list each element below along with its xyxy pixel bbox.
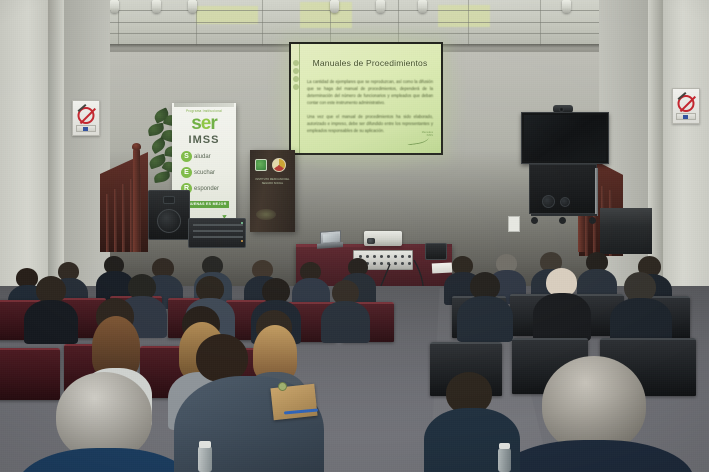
cart-legs — [531, 214, 597, 224]
cabinet-knob — [542, 195, 555, 208]
ceiling-grid-line — [262, 0, 263, 46]
left-railing-newel — [133, 148, 140, 252]
banner-org: IMSS — [172, 134, 236, 146]
ceiling-spotlight — [418, 0, 427, 13]
ceiling-spotlight — [152, 0, 161, 13]
right-pilaster-face — [648, 0, 663, 300]
slide-paragraph-1: La cantidad de ejemplares que se reprodu… — [307, 78, 433, 107]
no-smoking-sign-left — [72, 100, 100, 136]
banner-line-saludar: S aludar — [181, 151, 211, 162]
banner-brand: ser — [172, 114, 236, 133]
bottle-cap — [199, 441, 211, 448]
sign-caption — [76, 125, 96, 132]
slide-title: Manuales de Procedimientos — [305, 58, 435, 68]
slide-logo-label: ManualesIMSS — [422, 131, 433, 137]
slide-body: La cantidad de ejemplares que se reprodu… — [307, 78, 433, 134]
banner-word-escuchar: scuchar — [194, 170, 215, 176]
banner-top-bar — [174, 103, 234, 107]
presenter-laptop — [317, 230, 343, 250]
ceiling-spotlight — [188, 0, 197, 13]
ceiling-spotlight — [330, 0, 339, 13]
banner-word-saludar: aludar — [194, 154, 211, 160]
left-wall-recess — [62, 0, 110, 300]
podium-highlight — [256, 209, 276, 220]
water-bottle — [198, 446, 212, 472]
conference-room-photo: Manuales de Procedimientos La cantidad d… — [0, 0, 709, 472]
cabinet-knob — [560, 197, 570, 207]
banner-line-escuchar: E scuchar — [181, 167, 215, 178]
ceiling-grid-line — [540, 0, 541, 46]
wall-outlet-plate — [508, 216, 520, 232]
no-smoking-sign-right — [672, 88, 700, 124]
left-pilaster-face — [48, 0, 64, 300]
ceiling-grid-line — [398, 0, 399, 46]
institutional-seal-icon — [272, 158, 286, 172]
ceiling-light-panel — [300, 2, 352, 28]
water-bottle — [498, 448, 511, 472]
clipboard — [270, 384, 317, 420]
amplifier-rack — [188, 218, 246, 248]
speaker-woofer — [157, 209, 181, 233]
flat-panel-display — [521, 112, 609, 164]
podium-caption: INSTITUTO MEXICANO DEL SEGURO SOCIAL — [254, 178, 291, 186]
bottle-cap — [499, 443, 510, 449]
pa-speaker — [148, 190, 190, 240]
cart-pole — [595, 168, 598, 216]
slide-logo-icon: ManualesIMSS — [407, 131, 433, 147]
presentation-slide: Manuales de Procedimientos La cantidad d… — [291, 44, 441, 153]
cart-cabinet — [529, 164, 597, 214]
ceiling-spotlight — [110, 0, 119, 13]
imss-logo-icon — [255, 159, 267, 171]
speaker-tweeter — [163, 196, 175, 204]
slide-decoration-icon — [292, 58, 301, 102]
podium: INSTITUTO MEXICANO DEL SEGURO SOCIAL — [250, 150, 295, 232]
ceiling-light-panel — [438, 5, 490, 27]
ceiling-spotlight — [562, 0, 571, 13]
ceiling-grid-line — [468, 0, 469, 46]
projector — [364, 231, 402, 246]
banner-letter-e: E — [181, 167, 192, 178]
ceiling-spotlight — [376, 0, 385, 13]
clipboard-clip — [278, 382, 287, 391]
projector-lens — [367, 238, 375, 244]
auditorium-chair — [0, 348, 60, 400]
audio-stack — [148, 190, 244, 256]
sign-caption — [676, 113, 696, 120]
banner-letter-s: S — [181, 151, 192, 162]
side-table — [600, 208, 652, 254]
projection-screen: Manuales de Procedimientos La cantidad d… — [289, 42, 443, 155]
